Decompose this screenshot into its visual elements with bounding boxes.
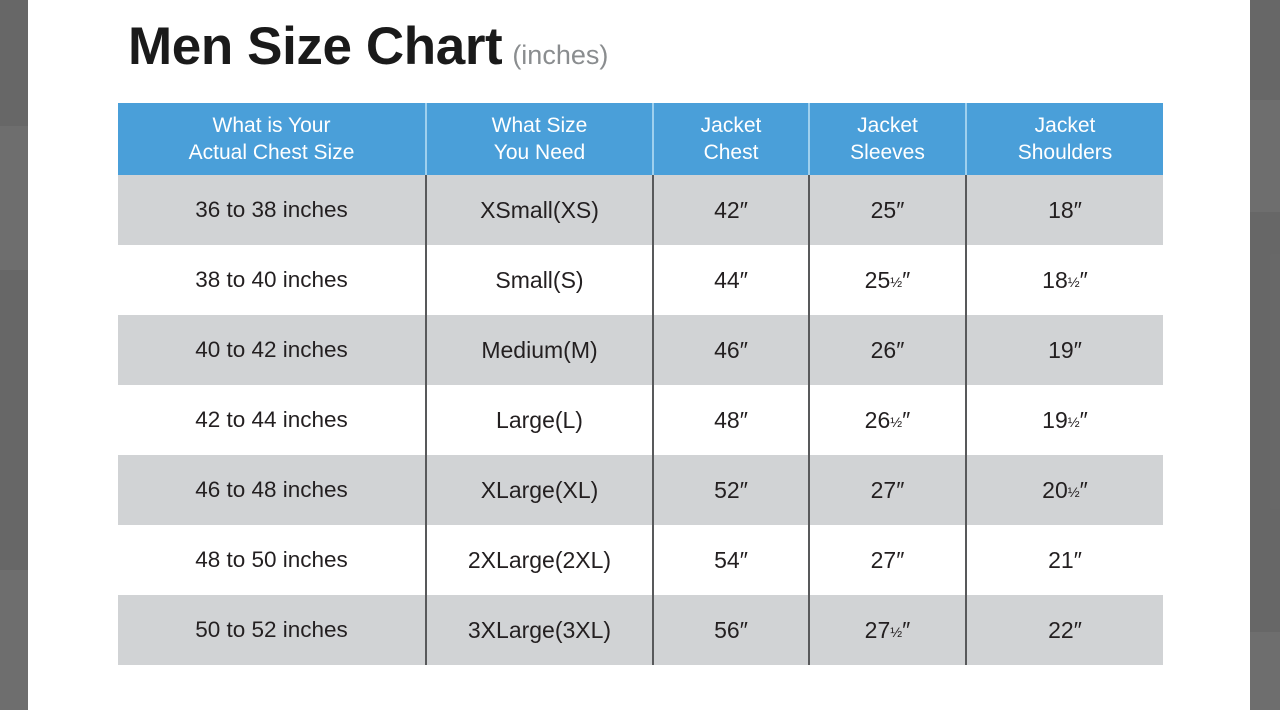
cell-jacket-sleeves: 25″ <box>809 175 966 245</box>
letterbox-shade <box>1250 0 1280 100</box>
table-header: What is Your Actual Chest Size What Size… <box>118 103 1163 175</box>
table-row: 46 to 48 inchesXLarge(XL)52″27″20½″ <box>118 455 1163 525</box>
page-title-text: Men Size Chart <box>128 20 502 73</box>
cell-jacket-chest: 52″ <box>653 455 809 525</box>
size-chart-table: What is Your Actual Chest Size What Size… <box>118 103 1163 665</box>
cell-jacket-shoulders: 18″ <box>966 175 1163 245</box>
column-header-actual-chest-size: What is Your Actual Chest Size <box>118 103 426 175</box>
table-row: 38 to 40 inchesSmall(S)44″25½″18½″ <box>118 245 1163 315</box>
table-row: 36 to 38 inchesXSmall(XS)42″25″18″ <box>118 175 1163 245</box>
table-row: 40 to 42 inchesMedium(M)46″26″19″ <box>118 315 1163 385</box>
cell-jacket-shoulders: 21″ <box>966 525 1163 595</box>
slide-canvas: Men Size Chart (inches) What is Your Act… <box>28 0 1250 710</box>
cell-jacket-chest: 48″ <box>653 385 809 455</box>
cell-jacket-shoulders: 20½″ <box>966 455 1163 525</box>
column-header-jacket-chest: Jacket Chest <box>653 103 809 175</box>
cell-actual-chest-size: 40 to 42 inches <box>118 315 426 385</box>
letterbox-right <box>1250 0 1280 710</box>
cell-actual-chest-size: 42 to 44 inches <box>118 385 426 455</box>
cell-size-you-need: XSmall(XS) <box>426 175 653 245</box>
cell-size-you-need: Medium(M) <box>426 315 653 385</box>
slide-screen: Men Size Chart (inches) What is Your Act… <box>0 0 1280 710</box>
cell-jacket-chest: 42″ <box>653 175 809 245</box>
cell-actual-chest-size: 38 to 40 inches <box>118 245 426 315</box>
page-title-unit: (inches) <box>512 42 608 69</box>
column-header-jacket-sleeves: Jacket Sleeves <box>809 103 966 175</box>
cell-jacket-sleeves: 27½″ <box>809 595 966 665</box>
table-row: 42 to 44 inchesLarge(L)48″26½″19½″ <box>118 385 1163 455</box>
cell-actual-chest-size: 48 to 50 inches <box>118 525 426 595</box>
letterbox-shade <box>1250 212 1280 632</box>
cell-jacket-chest: 56″ <box>653 595 809 665</box>
column-header-jacket-shoulders: Jacket Shoulders <box>966 103 1163 175</box>
cell-actual-chest-size: 50 to 52 inches <box>118 595 426 665</box>
cell-jacket-shoulders: 19″ <box>966 315 1163 385</box>
cell-jacket-sleeves: 26½″ <box>809 385 966 455</box>
cell-size-you-need: 3XLarge(3XL) <box>426 595 653 665</box>
cell-jacket-chest: 46″ <box>653 315 809 385</box>
cell-size-you-need: Large(L) <box>426 385 653 455</box>
letterbox-shade <box>0 0 28 126</box>
table-body: 36 to 38 inchesXSmall(XS)42″25″18″38 to … <box>118 175 1163 665</box>
cell-jacket-sleeves: 25½″ <box>809 245 966 315</box>
letterbox-shade <box>0 270 28 570</box>
cell-actual-chest-size: 36 to 38 inches <box>118 175 426 245</box>
cell-size-you-need: XLarge(XL) <box>426 455 653 525</box>
cell-size-you-need: 2XLarge(2XL) <box>426 525 653 595</box>
table-header-row: What is Your Actual Chest Size What Size… <box>118 103 1163 175</box>
cell-jacket-chest: 44″ <box>653 245 809 315</box>
column-header-size-you-need: What Size You Need <box>426 103 653 175</box>
cell-jacket-sleeves: 27″ <box>809 525 966 595</box>
letterbox-left <box>0 0 28 710</box>
cell-jacket-shoulders: 19½″ <box>966 385 1163 455</box>
cell-actual-chest-size: 46 to 48 inches <box>118 455 426 525</box>
page-title: Men Size Chart (inches) <box>128 20 608 73</box>
cell-jacket-sleeves: 26″ <box>809 315 966 385</box>
cell-size-you-need: Small(S) <box>426 245 653 315</box>
cell-jacket-shoulders: 22″ <box>966 595 1163 665</box>
table-row: 48 to 50 inches2XLarge(2XL)54″27″21″ <box>118 525 1163 595</box>
cell-jacket-shoulders: 18½″ <box>966 245 1163 315</box>
table-row: 50 to 52 inches3XLarge(3XL)56″27½″22″ <box>118 595 1163 665</box>
cell-jacket-chest: 54″ <box>653 525 809 595</box>
cell-jacket-sleeves: 27″ <box>809 455 966 525</box>
